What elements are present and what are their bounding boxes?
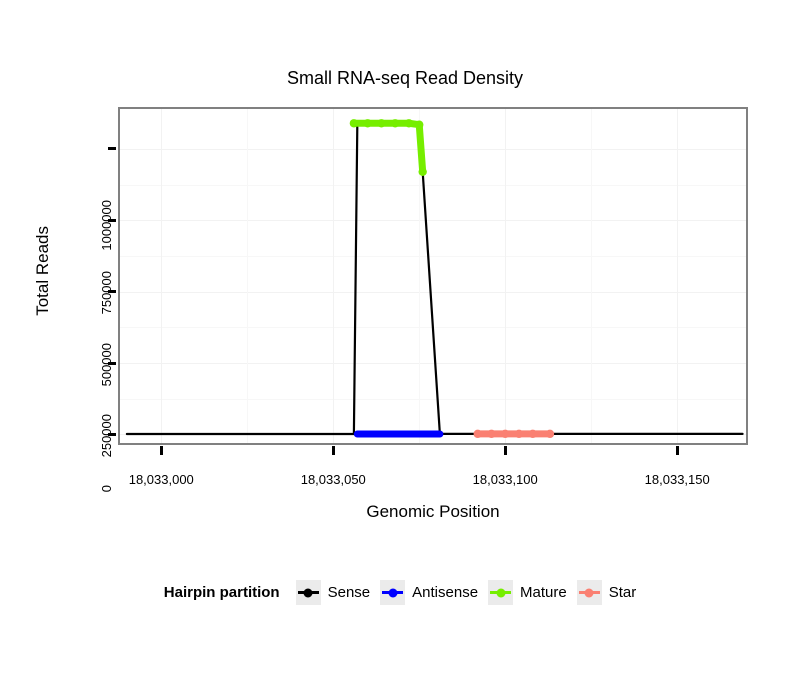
- y-tick-mark: [108, 147, 116, 150]
- chart-root: Small RNA-seq Read Density Total Reads 0…: [0, 0, 810, 690]
- series-point-antisense: [417, 432, 421, 436]
- series-point-antisense: [383, 432, 387, 436]
- legend-label: Star: [609, 584, 637, 601]
- series-point-antisense: [400, 432, 404, 436]
- x-tick-mark: [160, 446, 163, 455]
- x-tick-label: 18,033,000: [129, 472, 194, 487]
- series-point-star: [529, 430, 537, 438]
- legend-entries: SenseAntisenseMatureStar: [296, 580, 647, 605]
- series-point-mature: [363, 119, 371, 127]
- x-tick-label: 18,033,100: [473, 472, 538, 487]
- y-axis-title: Total Reads: [33, 226, 53, 316]
- legend-label: Mature: [520, 584, 567, 601]
- x-tick-label: 18,033,050: [301, 472, 366, 487]
- series-point-mature: [415, 121, 423, 129]
- x-tick-mark: [504, 446, 507, 455]
- series-point-star: [474, 430, 482, 438]
- series-line-mature: [354, 123, 423, 172]
- legend-key-antisense-icon: [380, 580, 405, 605]
- legend-entry-sense[interactable]: Sense: [296, 580, 371, 605]
- series-point-antisense: [355, 432, 359, 436]
- series-point-mature: [418, 168, 426, 176]
- legend-label: Sense: [328, 584, 371, 601]
- x-axis-title: Genomic Position: [118, 502, 748, 522]
- chart-title: Small RNA-seq Read Density: [0, 68, 810, 89]
- series-point-star: [487, 430, 495, 438]
- legend-key-mature-icon: [488, 580, 513, 605]
- legend-key-star-icon: [577, 580, 602, 605]
- legend-entry-mature[interactable]: Mature: [488, 580, 567, 605]
- series-point-star: [546, 430, 554, 438]
- series-point-mature: [405, 119, 413, 127]
- series-line-sense: [127, 123, 743, 434]
- x-tick-mark: [676, 446, 679, 455]
- legend-title: Hairpin partition: [164, 584, 280, 601]
- series-point-antisense: [438, 432, 442, 436]
- legend-key-sense-icon: [296, 580, 321, 605]
- series-point-mature: [350, 119, 358, 127]
- series-point-star: [515, 430, 523, 438]
- series-point-mature: [391, 119, 399, 127]
- legend: Hairpin partition SenseAntisenseMatureSt…: [0, 580, 810, 605]
- x-tick-mark: [332, 446, 335, 455]
- x-tick-label: 18,033,150: [645, 472, 710, 487]
- legend-entry-star[interactable]: Star: [577, 580, 637, 605]
- series-point-mature: [377, 119, 385, 127]
- plot-panel: [118, 107, 748, 445]
- series-layer: [120, 109, 746, 443]
- series-point-star: [501, 430, 509, 438]
- legend-entry-antisense[interactable]: Antisense: [380, 580, 478, 605]
- legend-label: Antisense: [412, 584, 478, 601]
- series-point-antisense: [365, 432, 369, 436]
